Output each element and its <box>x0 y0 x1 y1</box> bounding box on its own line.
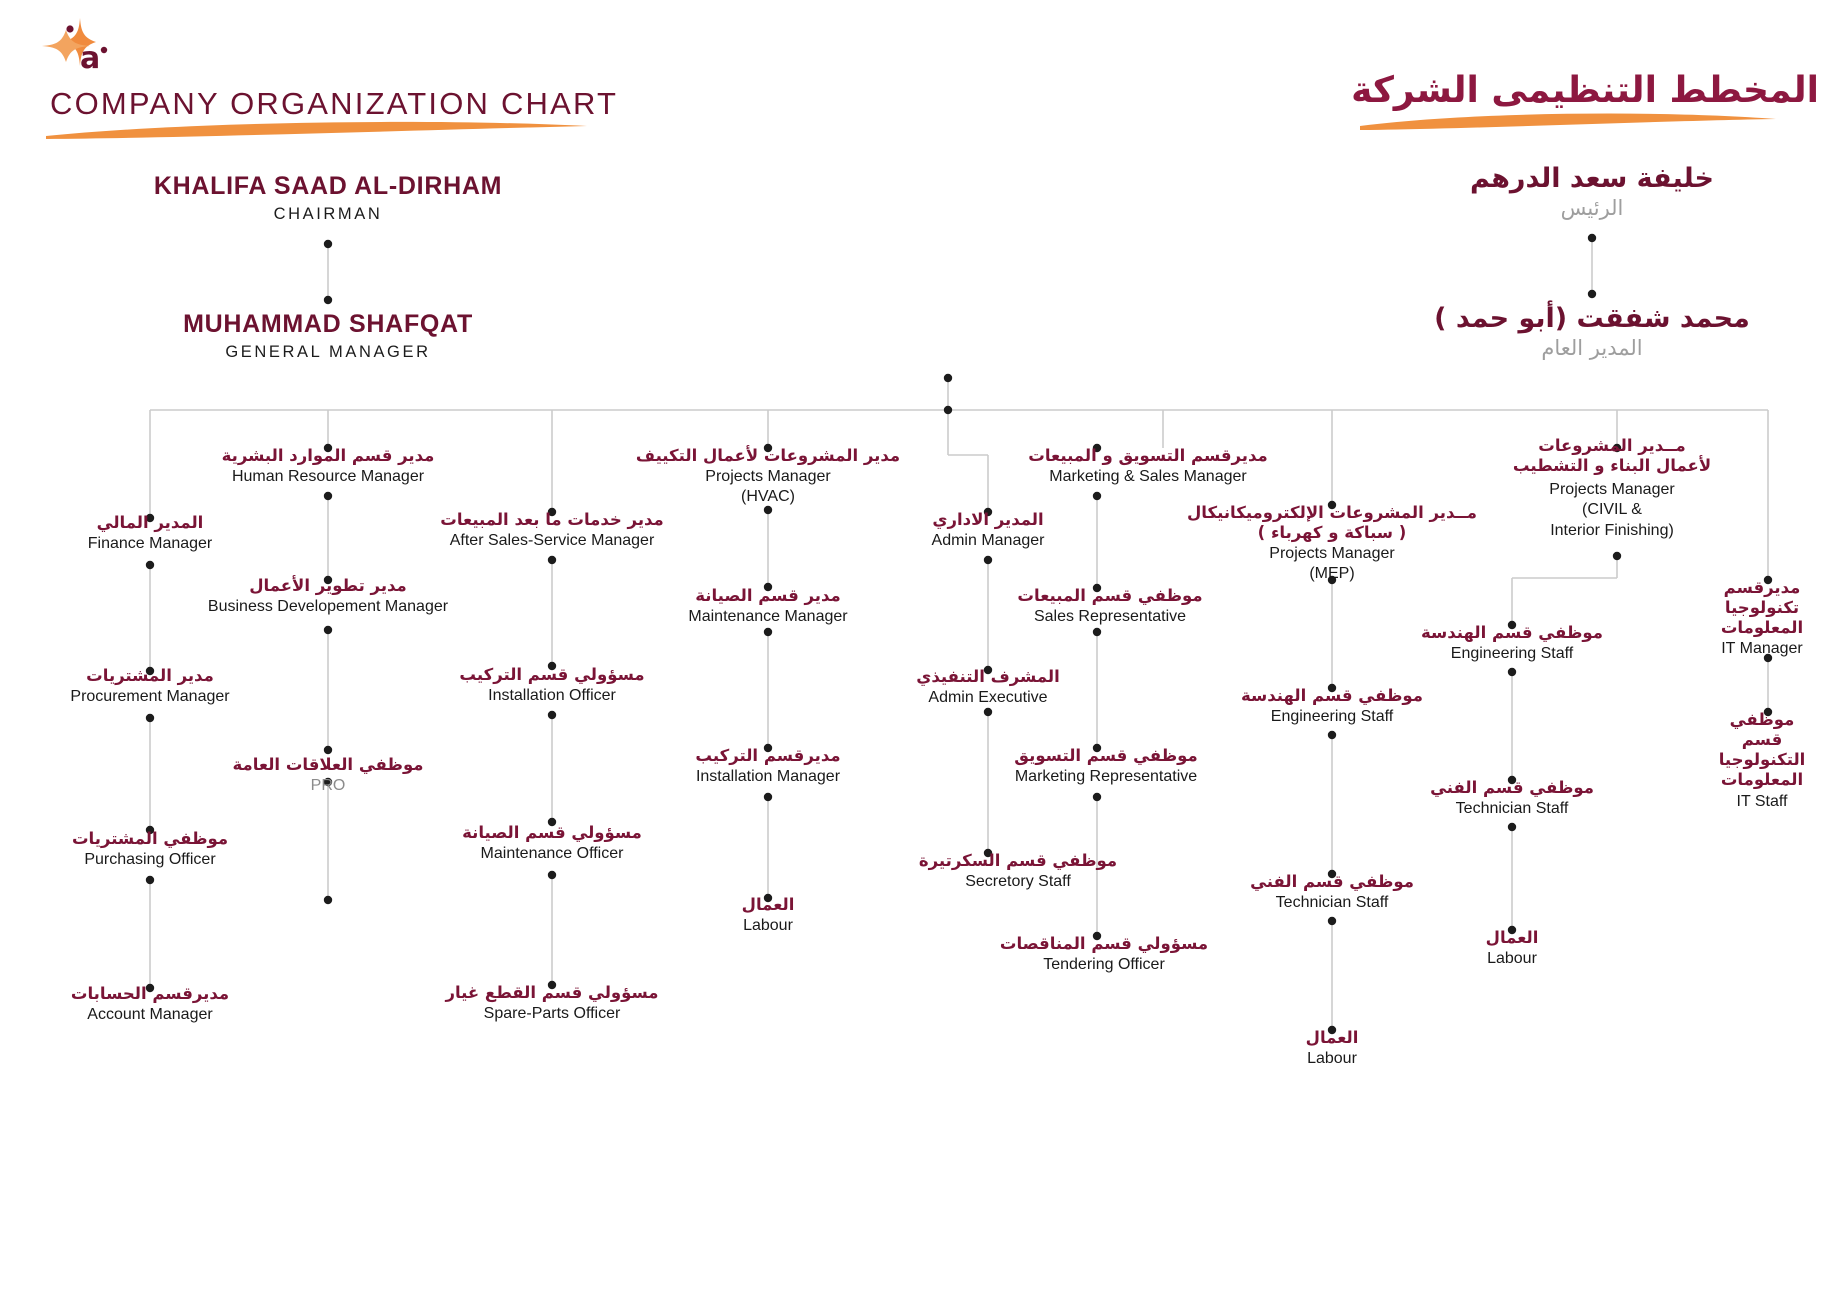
node-label-en: Maintenance Manager <box>688 607 847 627</box>
node-label-ar: مدير خدمات ما بعد المبيعات <box>440 510 664 530</box>
node-label-en: Engineering Staff <box>1421 644 1603 664</box>
node-label-en: Technician Staff <box>1430 799 1594 819</box>
node-label-en: Procurement Manager <box>70 687 229 707</box>
node-label-ar: المشرف التنفيذي <box>916 667 1059 687</box>
node-secretory-staff[interactable]: موظفي قسم السكرتيرة Secretory Staff <box>919 851 1117 892</box>
node-finance-manager[interactable]: المدير المالي Finance Manager <box>88 513 213 554</box>
general-manager-node-en: MUHAMMAD SHAFQAT GENERAL MANAGER <box>183 310 473 362</box>
chairman-title-en: CHAIRMAN <box>154 205 502 224</box>
node-label-en: Purchasing Officer <box>72 850 228 870</box>
node-marketing-representative[interactable]: موظفي قسم التسويق Marketing Representati… <box>1014 746 1197 787</box>
abstract-star-a-logo-icon: a <box>36 16 122 86</box>
node-label-ar: موظفي قسم الفني <box>1430 778 1594 798</box>
node-label-ar: العمال <box>1306 1028 1359 1048</box>
node-label-ar: موظفي قسم الهندسة <box>1241 686 1423 706</box>
node-labour-hvac[interactable]: العمال Labour <box>742 895 795 936</box>
node-it-staff[interactable]: موظفي قسم التكنولوجيا المعلومات IT Staff <box>1719 710 1806 812</box>
chairman-name-ar: خليفة سعد الدرهم <box>1470 163 1714 194</box>
node-engineering-staff-mep[interactable]: موظفي قسم الهندسة Engineering Staff <box>1241 686 1423 727</box>
node-label-ar: مسؤولي قسم التركيب <box>459 665 644 685</box>
node-label-ar: مدير قسم الموارد البشرية <box>222 446 435 466</box>
node-human-resource-manager[interactable]: مدير قسم الموارد البشرية Human Resource … <box>222 446 435 487</box>
node-installation-manager[interactable]: مديرقسم التركيب Installation Manager <box>695 746 840 787</box>
node-label-ar: موظفي قسم الهندسة <box>1421 623 1603 643</box>
node-label-en: Tendering Officer <box>1000 955 1208 975</box>
node-label-ar: مديرقسم الحسابات <box>71 984 229 1004</box>
node-label-en: IT Staff <box>1719 792 1806 812</box>
node-label-ar: مــدير المشروعات الإلكتروميكانيكال ( سبا… <box>1187 503 1477 543</box>
node-labour-mep[interactable]: العمال Labour <box>1306 1028 1359 1069</box>
chairman-node-en: KHALIFA SAAD AL-DIRHAM CHAIRMAN <box>154 172 502 224</box>
node-label-ar: مدير المشروعات لأعمال التكييف <box>636 446 900 466</box>
node-projects-manager-civil[interactable]: مــدير المشروعات لأعمال البناء و التشطيب… <box>1513 436 1711 541</box>
node-pro[interactable]: موظفي العلاقات العامة PRO <box>232 755 423 796</box>
node-label-en: Spare-Parts Officer <box>445 1004 658 1024</box>
node-label-en: IT Manager <box>1721 639 1804 659</box>
page-title-en: COMPANY ORGANIZATION CHART <box>50 86 618 122</box>
node-it-manager[interactable]: مديرقسم تكنولوجيا المعلومات IT Manager <box>1721 578 1804 660</box>
chairman-name-en: KHALIFA SAAD AL-DIRHAM <box>154 172 502 201</box>
node-label-en: Business Developement Manager <box>208 597 448 617</box>
node-label-ar: مدير قسم الصيانة <box>688 586 847 606</box>
node-marketing-sales-manager[interactable]: مديرقسم التسويق و المبيعات Marketing & S… <box>1028 446 1268 487</box>
node-label-ar: المدير الاداري <box>932 510 1045 530</box>
node-label-en: Admin Executive <box>916 688 1059 708</box>
node-label-en: Account Manager <box>71 1005 229 1025</box>
node-label-ar: مدير المشتريات <box>70 666 229 686</box>
node-label-en: Secretory Staff <box>919 872 1117 892</box>
orange-swoosh-underline-icon <box>44 118 589 140</box>
node-label-en: Finance Manager <box>88 534 213 554</box>
gm-title-ar: المدير العام <box>1434 336 1750 360</box>
node-label-ar: موظفي قسم التسويق <box>1014 746 1197 766</box>
node-projects-manager-mep[interactable]: مــدير المشروعات الإلكتروميكانيكال ( سبا… <box>1187 503 1477 585</box>
chairman-node-ar: خليفة سعد الدرهم الرئيس <box>1470 163 1714 220</box>
node-label-ar: مــدير المشروعات لأعمال البناء و التشطيب <box>1513 436 1711 476</box>
node-label-en: Admin Manager <box>932 531 1045 551</box>
node-label-ar: موظفي العلاقات العامة <box>232 755 423 775</box>
node-label-en: Marketing & Sales Manager <box>1028 467 1268 487</box>
gm-title-en: GENERAL MANAGER <box>183 343 473 362</box>
node-label-en: Engineering Staff <box>1241 707 1423 727</box>
node-label-en: Labour <box>742 916 795 936</box>
node-label-en: Sales Representative <box>1017 607 1202 627</box>
node-label-ar: مسؤولي قسم الصيانة <box>462 823 642 843</box>
node-label-en: Projects Manager (CIVIL & Interior Finis… <box>1513 480 1711 540</box>
node-admin-executive[interactable]: المشرف التنفيذي Admin Executive <box>916 667 1059 708</box>
node-business-development-manager[interactable]: مدير تطوير الأعمال Business Developement… <box>208 576 448 617</box>
node-maintenance-manager[interactable]: مدير قسم الصيانة Maintenance Manager <box>688 586 847 627</box>
node-label-en: Human Resource Manager <box>222 467 435 487</box>
node-label-en: Labour <box>1306 1049 1359 1069</box>
gm-name-ar: محمد شفقت (أبو حمد ) <box>1434 303 1750 334</box>
node-label-en: Labour <box>1486 949 1539 969</box>
node-label-ar: موظفي قسم السكرتيرة <box>919 851 1117 871</box>
node-procurement-manager[interactable]: مدير المشتريات Procurement Manager <box>70 666 229 707</box>
node-label-en: Technician Staff <box>1250 893 1414 913</box>
chairman-title-ar: الرئيس <box>1470 196 1714 220</box>
node-label-en: Projects Manager (MEP) <box>1187 544 1477 584</box>
org-chart-canvas: a COMPANY ORGANIZATION CHART المخطط التن… <box>0 0 1845 1293</box>
node-label-en: Projects Manager (HVAC) <box>636 467 900 507</box>
node-label-ar: مسؤولي قسم القطع غيار <box>445 983 658 1003</box>
node-engineering-staff-civil[interactable]: موظفي قسم الهندسة Engineering Staff <box>1421 623 1603 664</box>
node-label-en: Installation Manager <box>695 767 840 787</box>
node-after-sales-service-manager[interactable]: مدير خدمات ما بعد المبيعات After Sales-S… <box>440 510 664 551</box>
node-admin-manager[interactable]: المدير الاداري Admin Manager <box>932 510 1045 551</box>
node-spare-parts-officer[interactable]: مسؤولي قسم القطع غيار Spare-Parts Office… <box>445 983 658 1024</box>
node-label-ar: العمال <box>742 895 795 915</box>
node-purchasing-officer[interactable]: موظفي المشتريات Purchasing Officer <box>72 829 228 870</box>
node-label-en: Marketing Representative <box>1014 767 1197 787</box>
node-sales-representative[interactable]: موظفي قسم المبيعات Sales Representative <box>1017 586 1202 627</box>
node-label-ar: مديرقسم تكنولوجيا المعلومات <box>1721 578 1804 638</box>
node-label-ar: مديرقسم التركيب <box>695 746 840 766</box>
orange-swoosh-underline-ar-icon <box>1358 110 1778 132</box>
node-label-ar: موظفي قسم المبيعات <box>1017 586 1202 606</box>
node-projects-manager-hvac[interactable]: مدير المشروعات لأعمال التكييف Projects M… <box>636 446 900 507</box>
node-labour-civil[interactable]: العمال Labour <box>1486 928 1539 969</box>
node-technician-staff-mep[interactable]: موظفي قسم الفني Technician Staff <box>1250 872 1414 913</box>
node-label-ar: موظفي قسم الفني <box>1250 872 1414 892</box>
node-label-en: Maintenance Officer <box>462 844 642 864</box>
node-label-ar: المدير المالي <box>88 513 213 533</box>
node-tendering-officer[interactable]: مسؤولي قسم المناقصات Tendering Officer <box>1000 934 1208 975</box>
node-label-en: PRO <box>232 776 423 796</box>
node-maintenance-officer[interactable]: مسؤولي قسم الصيانة Maintenance Officer <box>462 823 642 864</box>
node-label-ar: موظفي قسم التكنولوجيا المعلومات <box>1719 710 1806 791</box>
node-account-manager[interactable]: مديرقسم الحسابات Account Manager <box>71 984 229 1025</box>
node-label-ar: مديرقسم التسويق و المبيعات <box>1028 446 1268 466</box>
general-manager-node-ar: محمد شفقت (أبو حمد ) المدير العام <box>1434 303 1750 360</box>
node-label-ar: العمال <box>1486 928 1539 948</box>
node-label-en: Installation Officer <box>459 686 644 706</box>
page-title-ar: المخطط التنظيمى الشركة <box>1351 70 1819 111</box>
node-technician-staff-civil[interactable]: موظفي قسم الفني Technician Staff <box>1430 778 1594 819</box>
node-installation-officer[interactable]: مسؤولي قسم التركيب Installation Officer <box>459 665 644 706</box>
node-label-ar: موظفي المشتريات <box>72 829 228 849</box>
svg-text:a: a <box>80 41 100 76</box>
gm-name-en: MUHAMMAD SHAFQAT <box>183 310 473 339</box>
node-label-en: After Sales-Service Manager <box>440 531 664 551</box>
node-label-ar: مسؤولي قسم المناقصات <box>1000 934 1208 954</box>
node-label-ar: مدير تطوير الأعمال <box>208 576 448 596</box>
